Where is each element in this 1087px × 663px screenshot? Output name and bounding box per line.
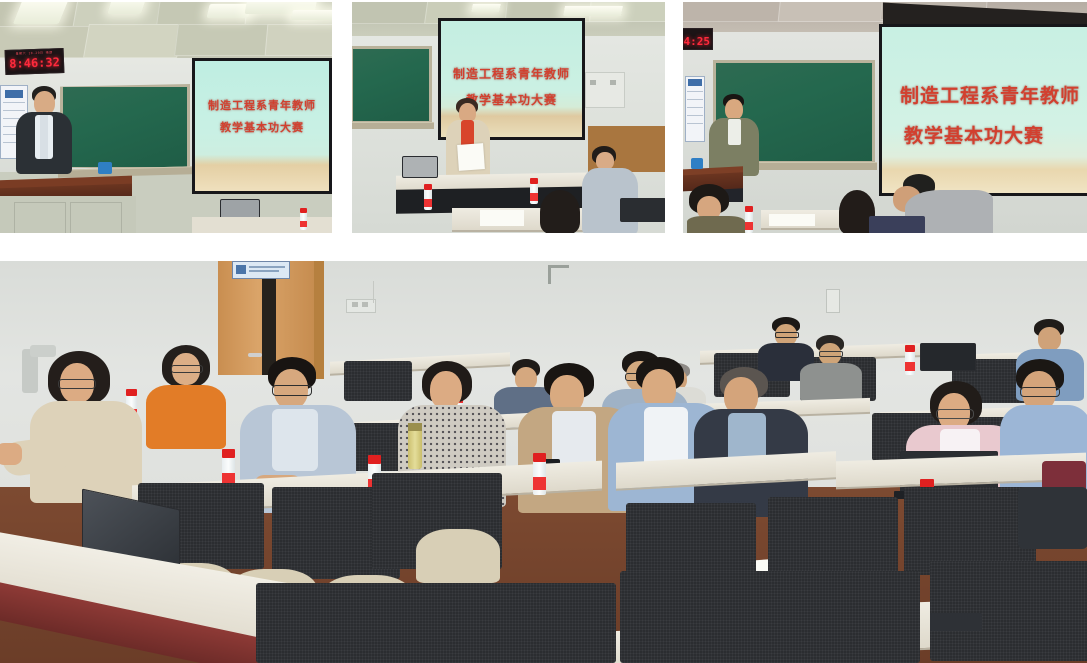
glasses-icon: [1020, 387, 1060, 397]
laptop: [620, 198, 665, 228]
water-bottle: [745, 206, 753, 233]
clock-time: 4:25: [683, 35, 712, 48]
laptop-sleeve: [930, 613, 982, 631]
desk-paper: [769, 214, 815, 226]
blackboard: [60, 84, 190, 170]
photo-collage: 星期六 10-29日 晴朗 8:46:32 制造工程系青年教师 教学基本功大赛: [0, 0, 1087, 663]
projection-screen-frame: 制造工程系青年教师 教学基本功大赛: [192, 58, 332, 194]
wall-poster: [685, 76, 705, 142]
hand: [0, 443, 22, 465]
audience-person: [534, 190, 586, 233]
blackboard: [352, 46, 432, 124]
head: [430, 371, 462, 409]
clock-time: 8:46:32: [6, 55, 63, 72]
glasses-icon: [936, 409, 974, 419]
water-bottle: [533, 453, 546, 495]
glass-tea-bottle: [408, 423, 422, 469]
person-man-dark-suit: [694, 367, 808, 517]
led-clock: 星期六 10-29日 晴朗 8:46:32: [5, 48, 65, 75]
chair-foreground: [930, 561, 1087, 661]
slide-line-1: 制造工程系青年教师: [195, 97, 329, 113]
chair-foreground: [256, 583, 616, 663]
wall-outlet: [346, 299, 376, 313]
slide-line-1: 制造工程系青年教师: [441, 65, 582, 82]
slide-line-2: 教学基本功大赛: [195, 119, 329, 135]
coat: [1018, 487, 1087, 549]
led-clock: 4:25: [683, 28, 713, 50]
slide-line-2: 教学基本功大赛: [904, 121, 1087, 148]
glasses-icon: [171, 365, 203, 373]
chalk-ledge: [352, 122, 434, 129]
blue-cup: [98, 162, 112, 174]
person-man-grey-glasses-upper: [800, 335, 862, 401]
water-bottle: [905, 345, 915, 375]
photo-1[interactable]: 星期六 10-29日 晴朗 8:46:32 制造工程系青年教师 教学基本功大赛: [0, 2, 332, 233]
presenter-paper: [457, 143, 485, 171]
water-bottle: [424, 184, 432, 210]
projection-screen: 制造工程系青年教师 教学基本功大赛: [195, 61, 329, 191]
shirt-inner: [272, 409, 318, 471]
chair-foreground: [620, 571, 920, 663]
desk-paper: [480, 210, 524, 226]
blue-cup: [691, 158, 703, 169]
presenter-head: [725, 99, 743, 120]
glasses-icon: [272, 385, 312, 396]
slide-line-1: 制造工程系青年教师: [900, 81, 1087, 108]
shirt-inner: [644, 407, 688, 467]
audience-person: [687, 184, 747, 233]
torso: [146, 385, 226, 449]
door-sign: [232, 261, 290, 279]
projection-screen-frame: 制造工程系青年教师 教学基本功大赛: [879, 24, 1087, 196]
laptop: [920, 343, 978, 377]
photo-3[interactable]: 4:25 制造工程系青年教师 教学基本功大赛: [683, 2, 1087, 233]
presenter-person: [14, 86, 74, 186]
photo-4[interactable]: [0, 261, 1087, 663]
person-woman-orange-top-glasses: [146, 345, 226, 449]
photo-2[interactable]: 制造工程系青年教师 教学基本功大赛: [352, 2, 665, 233]
clock-date-line: [683, 29, 712, 35]
water-bottle: [300, 208, 307, 230]
chair-seat: [416, 529, 500, 583]
laptop: [402, 156, 438, 180]
projection-screen: 制造工程系青年教师 教学基本功大赛: [882, 27, 1087, 193]
glasses-icon: [58, 379, 96, 389]
